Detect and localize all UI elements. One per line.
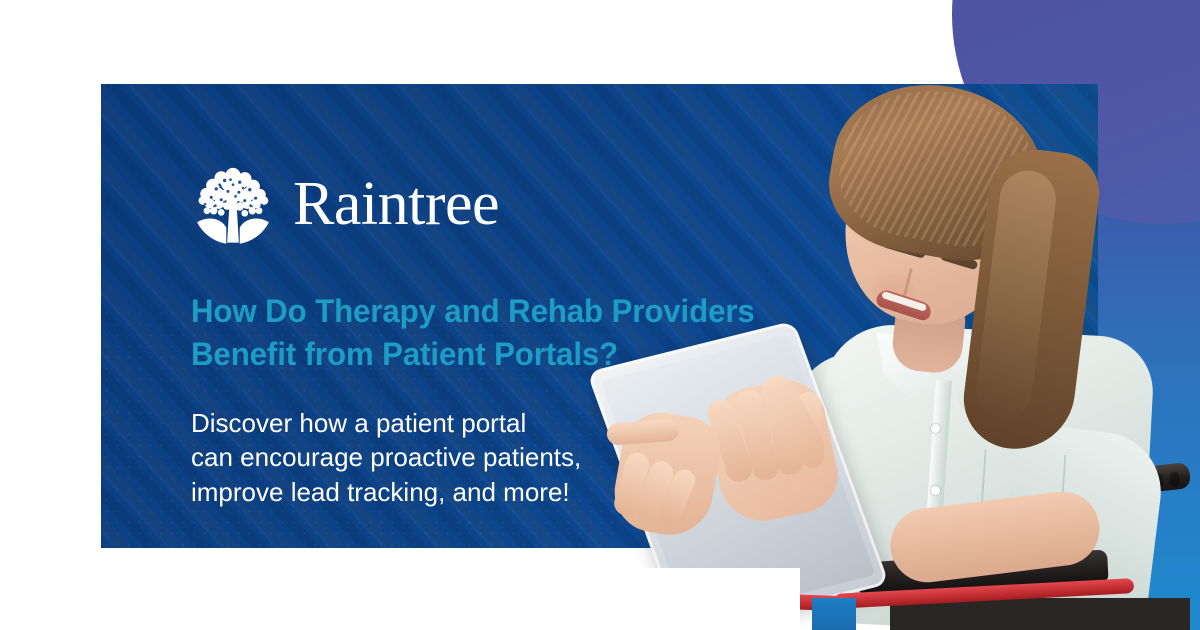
tree-in-circle-icon [191, 162, 275, 246]
baseline-mask [590, 568, 800, 630]
social-card-canvas: Raintree How Do Therapy and Rehab Provid… [0, 0, 1200, 630]
headline-line-1: How Do Therapy and Rehab Providers [191, 293, 755, 329]
subcopy-line-2: can encourage proactive patients, [191, 440, 661, 475]
subcopy: Discover how a patient portalcan encoura… [191, 406, 661, 510]
main-blue-card: Raintree How Do Therapy and Rehab Provid… [101, 84, 1098, 548]
page-title: How Do Therapy and Rehab ProvidersBenefi… [191, 290, 791, 376]
brand-wordmark: Raintree [293, 173, 499, 235]
wheelchair-armrest [857, 549, 1108, 596]
blue-accent-chip [812, 598, 856, 630]
brand-logo-lockup: Raintree [191, 162, 831, 246]
wheelchair-side-rail [834, 578, 1134, 609]
subcopy-line-1: Discover how a patient portal [191, 406, 661, 441]
wheelchair-front-elbow [590, 590, 630, 630]
wheelchair-front-rail [600, 588, 850, 612]
card-content: Raintree How Do Therapy and Rehab Provid… [191, 162, 831, 510]
subcopy-line-3: improve lead tracking, and more! [191, 475, 661, 510]
headline-line-2: Benefit from Patient Portals? [191, 336, 618, 372]
